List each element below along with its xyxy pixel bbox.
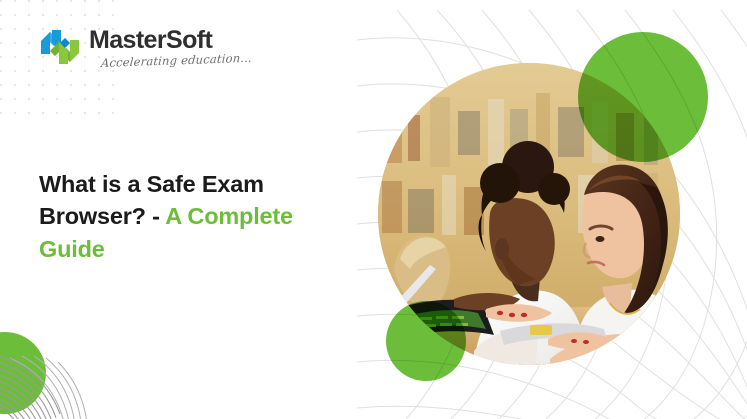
logo-text-block: MasterSoft Accelerating education...: [89, 27, 252, 70]
brand-name: MasterSoft: [89, 28, 252, 53]
green-circle-overlay-bottom-icon: [386, 301, 466, 381]
page-title: What is a Safe Exam Browser? - A Complet…: [39, 168, 339, 265]
blog-hero-banner: MasterSoft Accelerating education... Wha…: [0, 0, 747, 419]
green-circle-corner-icon: [0, 332, 46, 414]
green-circle-overlay-top-icon: [578, 32, 708, 162]
pinwheel-logo-icon: [39, 27, 81, 67]
brand-logo[interactable]: MasterSoft Accelerating education...: [39, 27, 252, 70]
